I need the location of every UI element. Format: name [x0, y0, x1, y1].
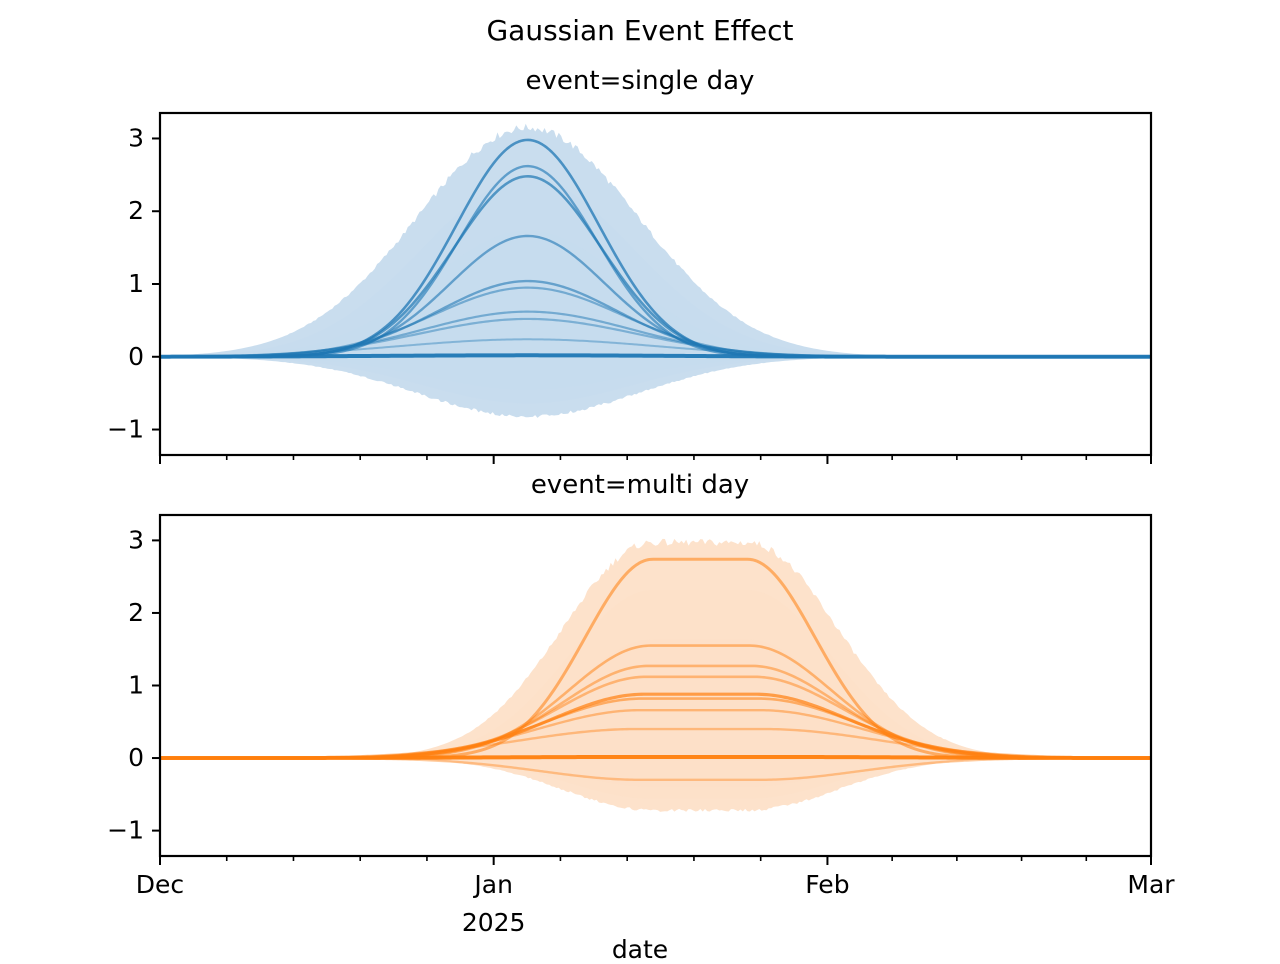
y-tick-label: −1 [107, 415, 144, 444]
series-line [160, 757, 1151, 758]
series-line [160, 355, 1151, 356]
y-tick-label: 1 [128, 269, 144, 298]
y-tick-label: 3 [128, 525, 144, 554]
x-tick-label: Dec [136, 870, 184, 899]
y-tick-label: 0 [128, 743, 144, 772]
x-axis-year-offset: 2025 [462, 908, 526, 937]
y-tick-label: −1 [107, 816, 144, 845]
y-tick-label: 1 [128, 671, 144, 700]
x-tick-label: Mar [1127, 870, 1175, 899]
figure-canvas: Gaussian Event Effect event=single day e… [0, 0, 1280, 960]
y-tick-label: 2 [128, 598, 144, 627]
chart-plot-area: 3210−13210−1DecJanFebMar2025 [0, 0, 1280, 960]
x-tick-label: Feb [805, 870, 849, 899]
panel-single-day: 3210−1 [107, 113, 1151, 464]
confidence-band-inner [160, 640, 1151, 787]
panel-multi-day: 3210−1DecJanFebMar [107, 515, 1175, 899]
y-tick-label: 3 [128, 123, 144, 152]
x-tick-label: Jan [472, 870, 513, 899]
y-tick-label: 2 [128, 196, 144, 225]
y-tick-label: 0 [128, 342, 144, 371]
